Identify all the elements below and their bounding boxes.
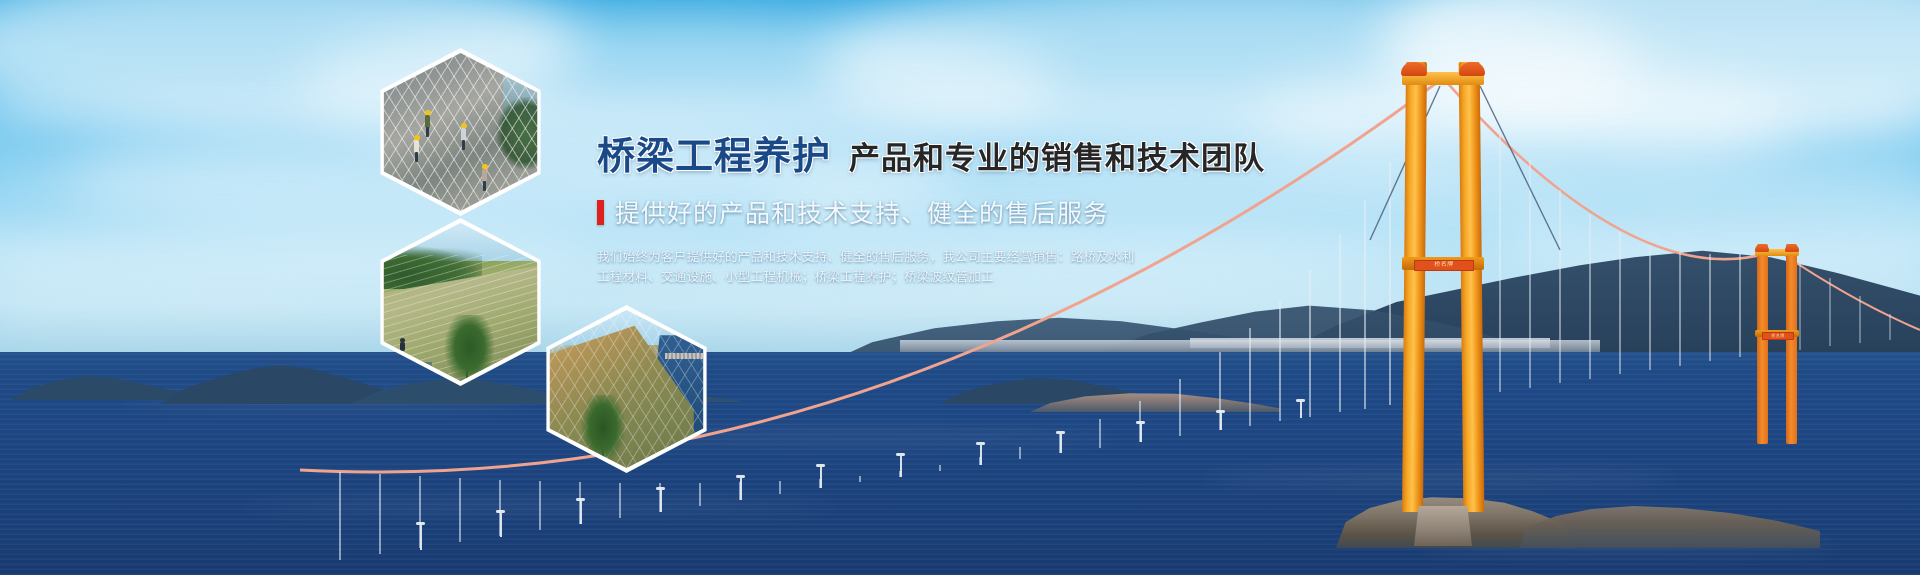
lamp-post xyxy=(1140,423,1142,442)
tower-cap xyxy=(1755,244,1769,252)
photo-image xyxy=(372,53,549,211)
hex-photo-vegetated-slope-mesh[interactable] xyxy=(368,218,553,386)
lamp-post xyxy=(900,455,902,477)
lamp-post xyxy=(980,444,982,465)
lamp-post xyxy=(1220,412,1222,430)
banner-body-text: 我们始终为客户提供好的产品和技术支持、健全的售后服务，我公司主要经营销售：路桥及… xyxy=(597,247,1142,287)
photo-image xyxy=(372,223,549,381)
tower-leg xyxy=(1459,62,1485,512)
headline-primary: 桥梁工程养护 xyxy=(597,136,831,178)
tower-cap xyxy=(1785,244,1799,252)
tower-foundation xyxy=(1414,506,1472,546)
lamp-post xyxy=(740,477,742,500)
tower-name-plate-text: 桥名牌 xyxy=(1415,261,1473,270)
page-title: 桥梁工程养护产品和专业的销售和技术团队 xyxy=(597,138,1237,176)
protective-mesh-texture xyxy=(538,310,715,468)
banner-subheadline: 提供好的产品和技术支持、健全的售后服务 xyxy=(597,194,1237,230)
lamp-post xyxy=(820,466,822,488)
lamp-post xyxy=(580,500,582,524)
hex-photo-rock-slope-mesh-workers[interactable] xyxy=(368,48,553,216)
lamp-post xyxy=(1060,433,1062,453)
suspension-bridge: 桥名牌 桥名牌 xyxy=(0,0,1920,575)
hex-photo-dry-slope-mesh-coastline[interactable] xyxy=(534,305,719,473)
bridge-tower-main: 桥名牌 xyxy=(1400,62,1486,512)
tower-cap xyxy=(1401,62,1427,76)
headline-secondary: 产品和专业的销售和技术团队 xyxy=(849,141,1265,176)
accent-bar-icon xyxy=(597,200,604,225)
lamp-post xyxy=(420,524,422,550)
tower-name-plate: 桥名牌 xyxy=(1762,332,1794,340)
tower-name-plate: 桥名牌 xyxy=(1414,260,1474,271)
banner-text-block: 桥梁工程养护产品和专业的销售和技术团队 提供好的产品和技术支持、健全的售后服务 … xyxy=(597,138,1237,287)
photo-image xyxy=(538,310,715,468)
lamp-post xyxy=(1300,401,1302,418)
tower-leg xyxy=(1786,244,1797,444)
tower-leg xyxy=(1757,244,1768,444)
bridge-tower-far: 桥名牌 xyxy=(1754,244,1800,444)
lamp-post xyxy=(660,489,662,512)
tower-leg xyxy=(1402,62,1427,512)
lamp-post xyxy=(500,512,502,537)
subheadline-text: 提供好的产品和技术支持、健全的售后服务 xyxy=(615,194,1109,230)
tower-name-plate-text: 桥名牌 xyxy=(1763,333,1793,339)
hero-banner: 桥名牌 桥名牌 xyxy=(0,0,1920,575)
tower-cap xyxy=(1459,62,1485,76)
